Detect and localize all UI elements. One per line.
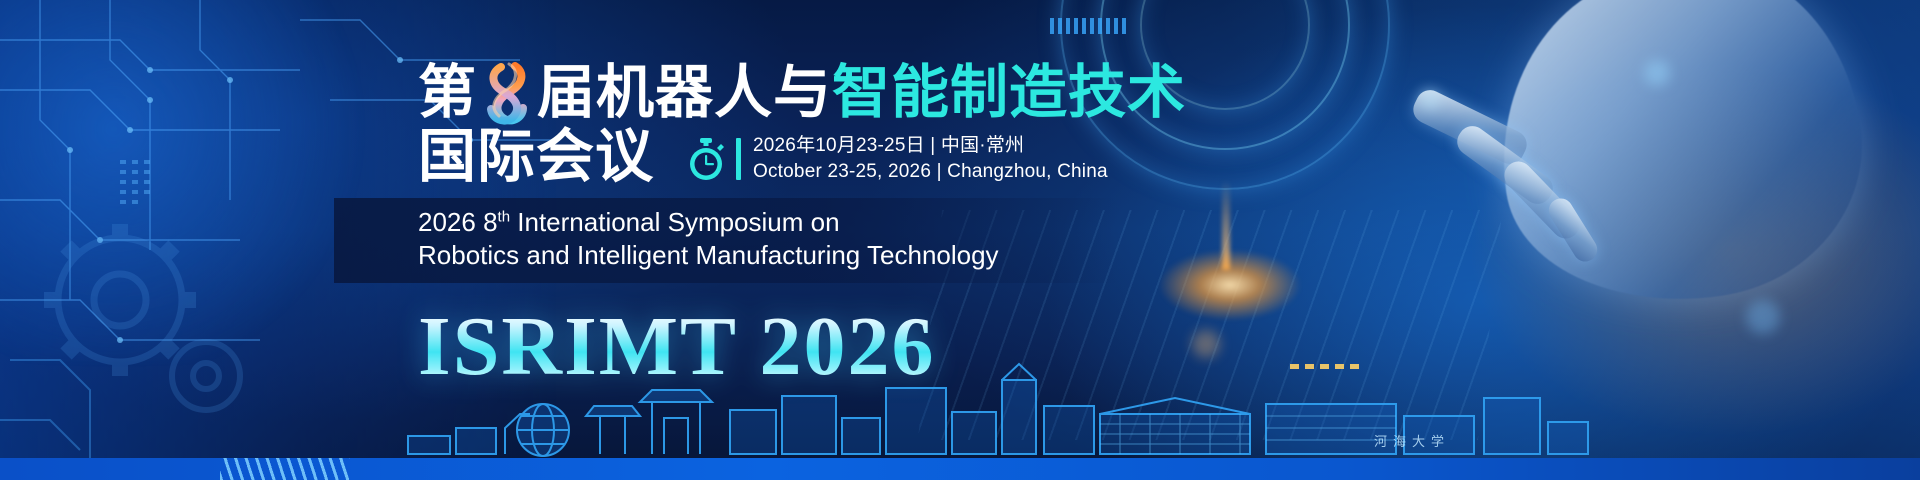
banner-content: 第届机器人与智能制造技术 国际会议 2026年10月23-25日 | 中国·常州: [418, 60, 1518, 389]
date-english: October 23-25, 2026 | Changzhou, China: [753, 159, 1108, 184]
decorative-dots: [1050, 18, 1126, 34]
subtitle-line1: 2026 8th International Symposium on: [418, 206, 1118, 240]
university-mark: 河海大学: [1374, 431, 1450, 450]
conference-banner: 第届机器人与智能制造技术 国际会议 2026年10月23-25日 | 中国·常州: [0, 0, 1920, 480]
bottom-bar: [0, 458, 1920, 480]
bottom-bar-stripe: [220, 458, 350, 480]
bokeh-light: [1644, 60, 1670, 86]
stopwatch-icon: [686, 137, 726, 181]
title-line2-text: 国际会议: [418, 124, 654, 189]
title-chinese-line2: 国际会议: [418, 126, 654, 187]
bokeh-light: [1746, 300, 1780, 334]
title-chinese-line1: 第届机器人与智能制造技术: [418, 60, 1518, 126]
title-rest: 机器人与: [596, 60, 832, 125]
subtitle-band: 2026 8th International Symposium on Robo…: [334, 198, 1118, 284]
ordinal-suffix: th: [498, 208, 511, 225]
subtitle-line1-rest: International Symposium on: [510, 207, 840, 237]
robot-hand: [1479, 0, 1881, 323]
subtitle-year-ordinal: 2026 8: [418, 207, 498, 237]
subtitle-line2: Robotics and Intelligent Manufacturing T…: [418, 239, 1118, 273]
title-mid: 届: [537, 60, 596, 125]
date-chinese: 2026年10月23-25日 | 中国·常州: [753, 133, 1108, 158]
divider-bar: [736, 138, 741, 180]
title-prefix: 第: [418, 60, 477, 125]
acronym-logo: ISRIMT 2026: [418, 305, 1518, 389]
number-eight-logo: [479, 60, 535, 126]
date-location-text: 2026年10月23-25日 | 中国·常州 October 23-25, 20…: [753, 133, 1108, 183]
title-highlight: 智能制造技术: [832, 60, 1186, 125]
date-location-row: 2026年10月23-25日 | 中国·常州 October 23-25, 20…: [686, 133, 1518, 183]
